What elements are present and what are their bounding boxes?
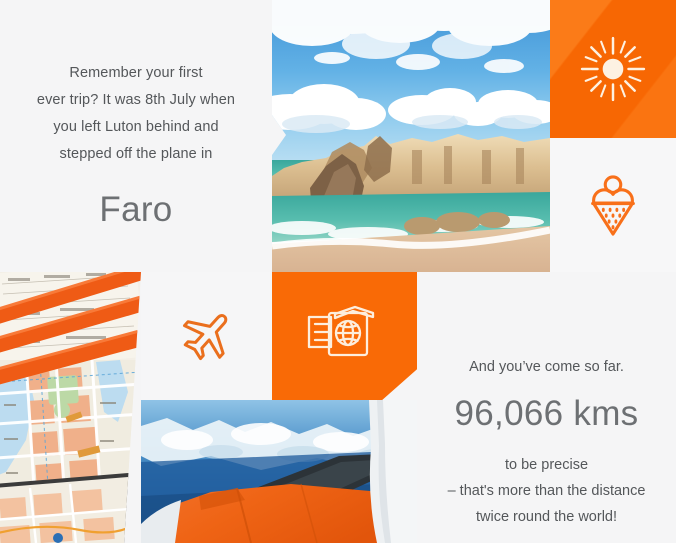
stats-detail-line-2: – that's more than the distance — [448, 478, 646, 504]
distance-value: 96,066 kms — [455, 393, 639, 435]
intro-paragraph: Remember your first ever trip? It was 8t… — [19, 60, 254, 168]
sun-panel — [550, 0, 676, 138]
stats-text-block: And you’ve come so far. 96,066 kms to be… — [417, 340, 676, 543]
stats-detail-text: to be precise – that's more than the dis… — [448, 452, 646, 530]
passport-panel — [272, 272, 417, 400]
plane-icon-panel — [141, 272, 272, 400]
stats-detail-line-3: twice round the world! — [448, 504, 646, 530]
city-map-tickets-photo — [0, 272, 141, 543]
ice-cream-cone-icon — [584, 174, 642, 236]
passport-globe-icon — [307, 302, 377, 362]
intro-text-block: Remember your first ever trip? It was 8t… — [0, 0, 272, 272]
stats-lead-text: And you’ve come so far. — [469, 357, 624, 377]
destination-heading: Faro — [99, 190, 172, 230]
stats-detail-line-1: to be precise — [448, 452, 646, 478]
intro-line-3: you left Luton behind and — [19, 114, 254, 141]
intro-line-2: ever trip? It was 8th July when — [19, 87, 254, 114]
beach-photo-artwork — [272, 0, 550, 272]
intro-line-4: stepped off the plane in — [19, 141, 254, 168]
ice-cream-panel — [550, 138, 676, 272]
sun-icon — [580, 36, 646, 102]
airplane-wing-aerial-photo — [141, 400, 417, 543]
plane-window-artwork — [141, 400, 417, 543]
beach-cliffs-photo — [272, 0, 550, 272]
airplane-icon — [176, 305, 238, 367]
travel-infographic: Remember your first ever trip? It was 8t… — [0, 0, 676, 543]
map-photo-artwork — [0, 272, 141, 543]
intro-line-1: Remember your first — [19, 60, 254, 87]
